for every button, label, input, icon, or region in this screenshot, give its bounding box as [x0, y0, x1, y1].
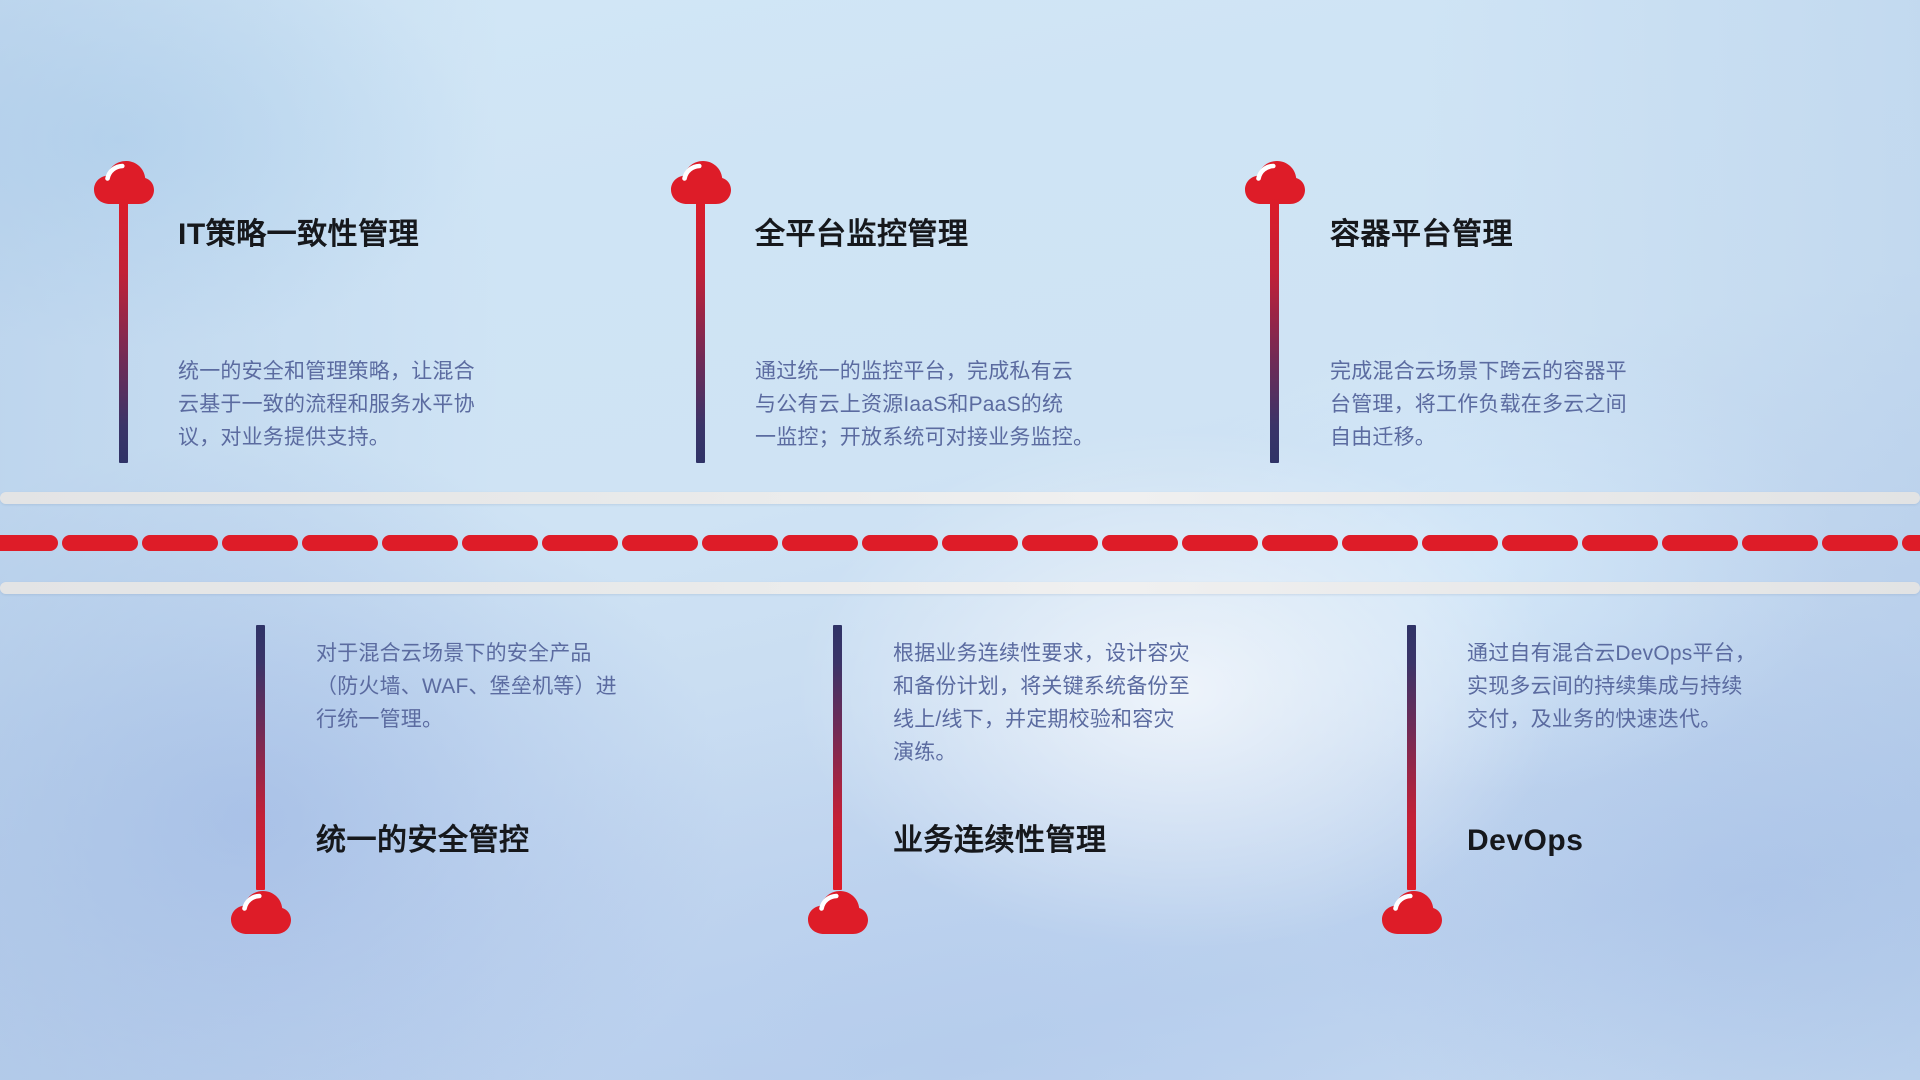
- road-center-dashes: [0, 535, 1920, 551]
- road-dash: [622, 535, 698, 551]
- panel-title: 容器平台管理: [1330, 217, 1513, 253]
- cloud-icon: [230, 890, 292, 936]
- connector-stem: [1270, 198, 1279, 463]
- road-dash: [222, 535, 298, 551]
- road-dash: [1262, 535, 1338, 551]
- cloud-icon: [1381, 890, 1443, 936]
- connector-stem: [119, 198, 128, 463]
- body-line: 对于混合云场景下的安全产品: [316, 637, 617, 670]
- infographic-canvas: IT策略一致性管理 统一的安全和管理策略，让混合 云基于一致的流程和服务水平协 …: [0, 0, 1920, 1080]
- panel-body: 对于混合云场景下的安全产品 （防火墙、WAF、堡垒机等）进 行统一管理。: [316, 637, 617, 736]
- panel-body: 通过自有混合云DevOps平台， 实现多云间的持续集成与持续 交付，及业务的快速…: [1467, 637, 1756, 736]
- road-dash: [1182, 535, 1258, 551]
- body-line: 通过自有混合云DevOps平台，: [1467, 637, 1756, 670]
- body-line: 演练。: [893, 736, 1190, 769]
- road-edge-line-bottom: [0, 582, 1920, 594]
- road-dash: [1022, 535, 1098, 551]
- panel-title: DevOps: [1467, 823, 1583, 859]
- road-dash: [862, 535, 938, 551]
- body-line: 统一的安全和管理策略，让混合: [178, 355, 475, 388]
- road-dash: [1822, 535, 1898, 551]
- connector-stem: [696, 198, 705, 463]
- panel-title: 统一的安全管控: [316, 823, 530, 859]
- road-dash: [1662, 535, 1738, 551]
- road-dash: [62, 535, 138, 551]
- road-dash: [782, 535, 858, 551]
- body-line: 台管理，将工作负载在多云之间: [1330, 388, 1627, 421]
- panel-title: 全平台监控管理: [755, 217, 969, 253]
- road-dash: [0, 535, 58, 551]
- road-dash: [942, 535, 1018, 551]
- road-dash: [1502, 535, 1578, 551]
- connector-stem: [833, 625, 842, 890]
- panel-body: 完成混合云场景下跨云的容器平 台管理，将工作负载在多云之间 自由迁移。: [1330, 355, 1627, 454]
- road-dash: [302, 535, 378, 551]
- body-line: 实现多云间的持续集成与持续: [1467, 670, 1756, 703]
- body-line: 一监控；开放系统可对接业务监控。: [755, 421, 1094, 454]
- body-line: 根据业务连续性要求，设计容灾: [893, 637, 1190, 670]
- road-dash: [1342, 535, 1418, 551]
- road-edge-line-top: [0, 492, 1920, 504]
- panel-title: IT策略一致性管理: [178, 217, 419, 253]
- road-dash: [1902, 535, 1920, 551]
- panel-body: 统一的安全和管理策略，让混合 云基于一致的流程和服务水平协 议，对业务提供支持。: [178, 355, 475, 454]
- connector-stem: [256, 625, 265, 890]
- body-line: 行统一管理。: [316, 703, 617, 736]
- connector-stem: [1407, 625, 1416, 890]
- road-dash: [702, 535, 778, 551]
- road-dash: [542, 535, 618, 551]
- body-line: 议，对业务提供支持。: [178, 421, 475, 454]
- body-line: 交付，及业务的快速迭代。: [1467, 703, 1756, 736]
- road-dash: [1102, 535, 1178, 551]
- body-line: 自由迁移。: [1330, 421, 1627, 454]
- panel-title: 业务连续性管理: [893, 823, 1107, 859]
- road-dash: [462, 535, 538, 551]
- road-dash: [382, 535, 458, 551]
- cloud-icon: [807, 890, 869, 936]
- panel-body: 根据业务连续性要求，设计容灾 和备份计划，将关键系统备份至 线上/线下，并定期校…: [893, 637, 1190, 769]
- body-line: 线上/线下，并定期校验和容灾: [893, 703, 1190, 736]
- body-line: 与公有云上资源IaaS和PaaS的统: [755, 388, 1094, 421]
- body-line: 云基于一致的流程和服务水平协: [178, 388, 475, 421]
- panel-body: 通过统一的监控平台，完成私有云 与公有云上资源IaaS和PaaS的统 一监控；开…: [755, 355, 1094, 454]
- body-line: （防火墙、WAF、堡垒机等）进: [316, 670, 617, 703]
- body-line: 通过统一的监控平台，完成私有云: [755, 355, 1094, 388]
- road-dash: [1582, 535, 1658, 551]
- road-dash: [1422, 535, 1498, 551]
- body-line: 完成混合云场景下跨云的容器平: [1330, 355, 1627, 388]
- road-dash: [1742, 535, 1818, 551]
- body-line: 和备份计划，将关键系统备份至: [893, 670, 1190, 703]
- road-dash: [142, 535, 218, 551]
